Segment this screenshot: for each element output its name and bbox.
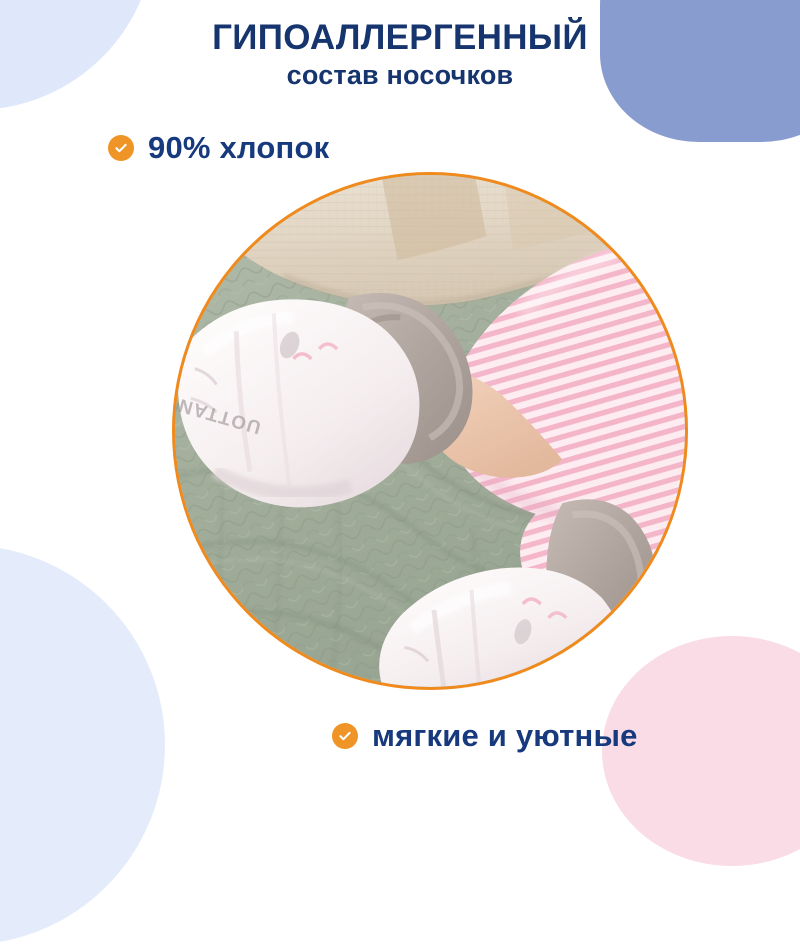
blob-bottom-left [0,545,165,945]
check-circle-icon [108,135,134,161]
feature-bullet-cotton: 90% хлопок [108,130,329,166]
feature-bullet-label: 90% хлопок [148,130,329,166]
photo-inner-frame: UOTTAN [175,175,685,687]
feature-bullet-label: мягкие и уютные [372,718,638,754]
baby-feet-in-socks-photo: UOTTAN [172,172,688,690]
page-header: ГИПОАЛЛЕРГЕННЫЙ состав носочков [0,18,800,92]
photo-illustration: UOTTAN [175,175,685,687]
page-title-secondary: состав носочков [0,59,800,91]
feature-bullet-cozy: мягкие и уютные [332,718,638,754]
check-circle-icon [332,723,358,749]
page-title-primary: ГИПОАЛЛЕРГЕННЫЙ [0,18,800,57]
